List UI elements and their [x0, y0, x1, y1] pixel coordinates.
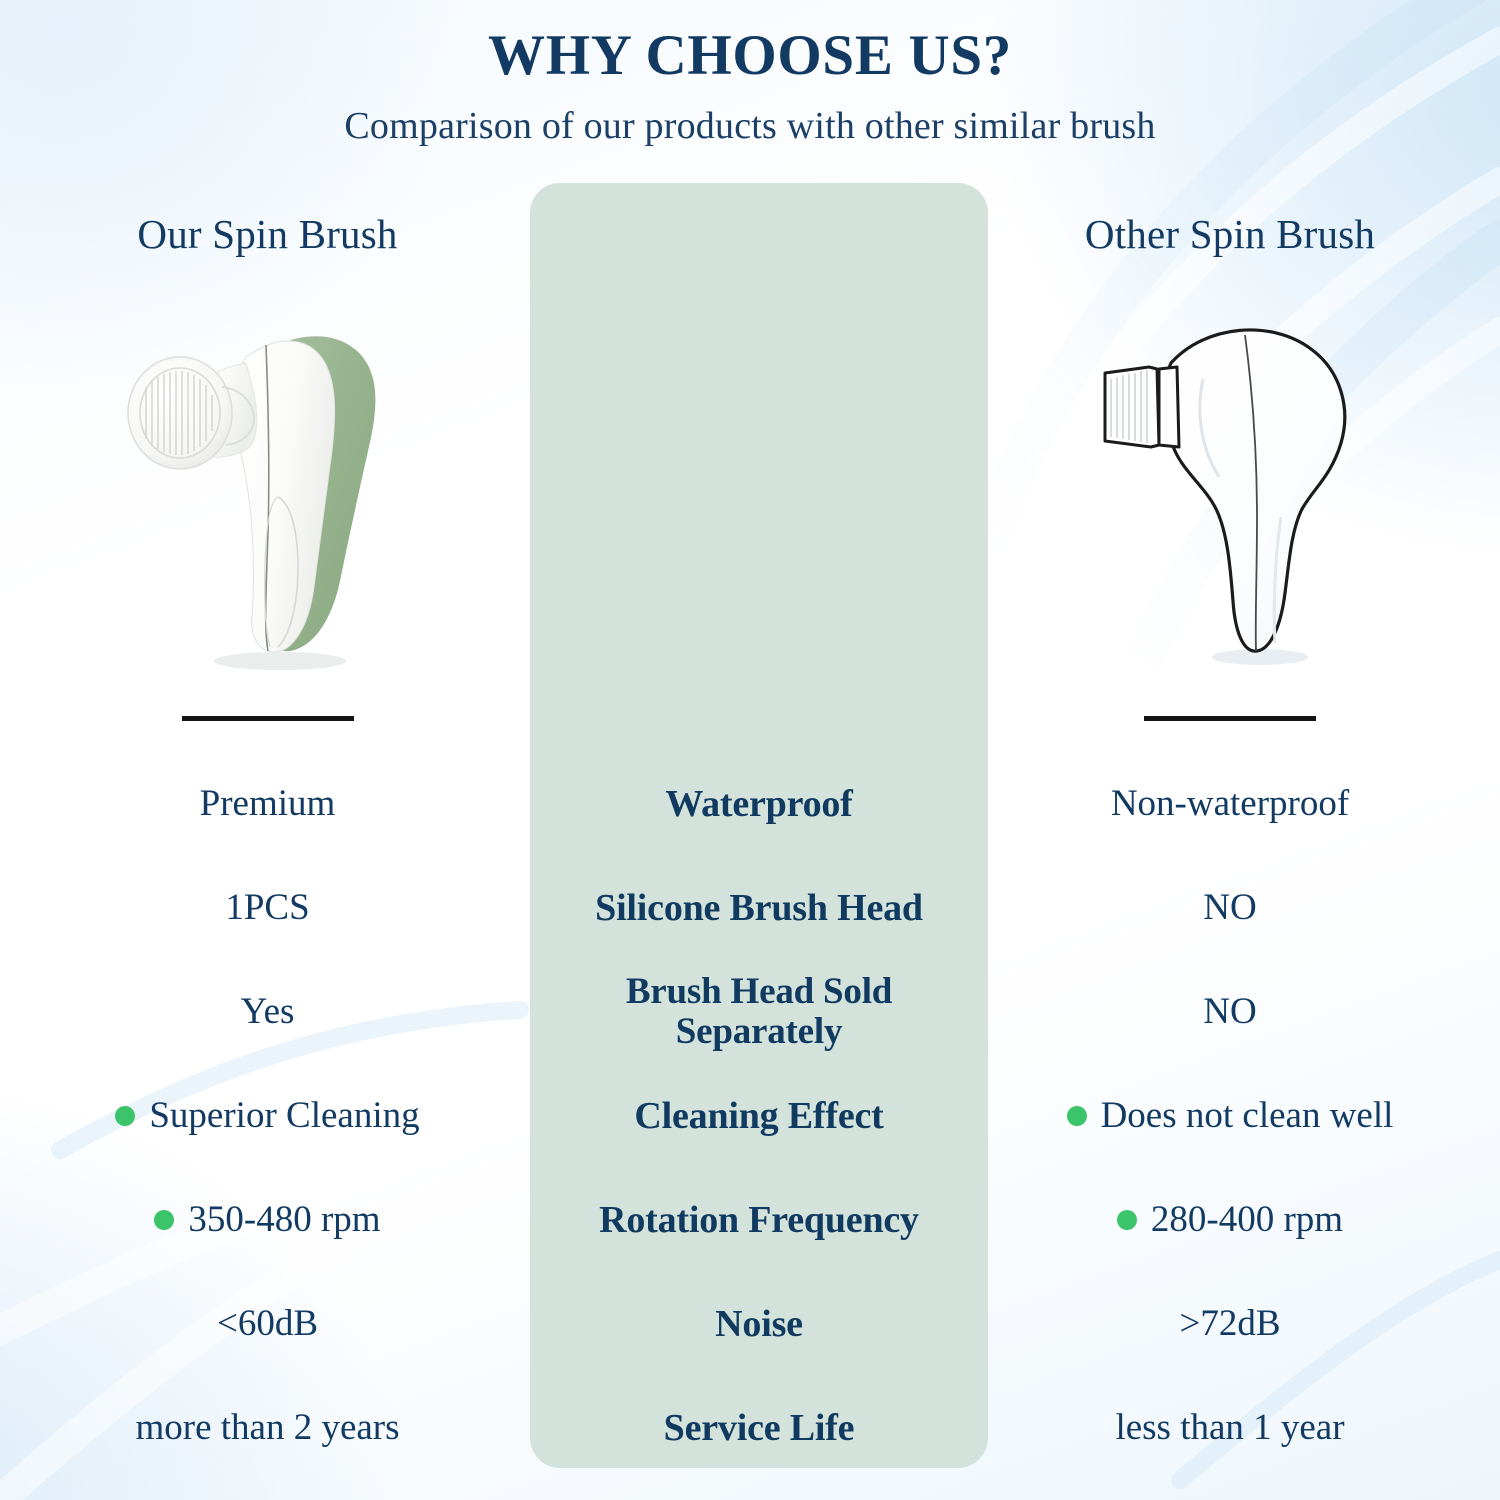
comparison-value: 1PCS	[225, 887, 309, 928]
feature-label-line1: Brush Head Sold	[626, 971, 892, 1012]
feature-label-row: Silicone Brush Head	[530, 856, 988, 960]
comparison-value: 350-480 rpm	[154, 1199, 380, 1240]
feature-label-line1: Waterproof	[665, 783, 852, 825]
bullet-dot-icon	[115, 1106, 135, 1126]
comparison-value: less than 1 year	[1115, 1407, 1344, 1448]
feature-label-line1: Service Life	[664, 1407, 855, 1449]
comparison-value-label: Does not clean well	[1101, 1095, 1394, 1136]
divider-right	[1144, 716, 1316, 721]
comparison-row-left: <60dB	[40, 1272, 495, 1376]
comparison-row-left: Superior Cleaning	[40, 1064, 495, 1168]
bullet-dot-icon	[1117, 1210, 1137, 1230]
comparison-row-left: 1PCS	[40, 856, 495, 960]
comparison-row-right: NO	[1000, 856, 1460, 960]
comparison-row-right: >72dB	[1000, 1272, 1460, 1376]
column-header-left: Our Spin Brush	[40, 210, 495, 258]
comparison-value-label: Superior Cleaning	[149, 1095, 419, 1136]
feature-label: Brush Head SoldSeparately	[626, 972, 892, 1051]
feature-label: Silicone Brush Head	[595, 887, 923, 930]
comparison-row-left: Premium	[40, 752, 495, 856]
feature-label: Service Life	[664, 1407, 855, 1450]
comparison-value: Does not clean well	[1067, 1095, 1394, 1136]
feature-label: Waterproof	[665, 783, 852, 826]
feature-label-row: Brush Head SoldSeparately	[530, 960, 988, 1064]
feature-label-line1: Rotation Frequency	[599, 1199, 919, 1241]
feature-label: Cleaning Effect	[634, 1095, 883, 1138]
comparison-value: >72dB	[1179, 1303, 1280, 1344]
feature-label-line1: Noise	[715, 1303, 803, 1345]
comparison-row-right: NO	[1000, 960, 1460, 1064]
comparison-value: NO	[1203, 887, 1256, 928]
comparison-row-right: less than 1 year	[1000, 1376, 1460, 1480]
comparison-value: Yes	[241, 991, 295, 1032]
comparison-value: <60dB	[217, 1303, 318, 1344]
product-image-our-spin-brush	[40, 300, 495, 680]
comparison-value-label: 350-480 rpm	[188, 1199, 380, 1240]
comparison-row-right: Non-waterproof	[1000, 752, 1460, 856]
page-title: WHY CHOOSE US?	[0, 26, 1500, 86]
comparison-value-label: 280-400 rpm	[1151, 1199, 1343, 1240]
feature-label-row: Cleaning Effect	[530, 1064, 988, 1168]
comparison-value: 280-400 rpm	[1117, 1199, 1343, 1240]
feature-label-row: Rotation Frequency	[530, 1168, 988, 1272]
comparison-row-left: 350-480 rpm	[40, 1168, 495, 1272]
feature-label: Noise	[715, 1303, 803, 1346]
feature-label-line1: Silicone Brush Head	[595, 887, 923, 929]
feature-label-row: Noise	[530, 1272, 988, 1376]
comparison-value: more than 2 years	[135, 1407, 399, 1448]
page-subtitle: Comparison of our products with other si…	[0, 104, 1500, 148]
bullet-dot-icon	[1067, 1106, 1087, 1126]
comparison-row-right: 280-400 rpm	[1000, 1168, 1460, 1272]
comparison-value: Non-waterproof	[1111, 783, 1349, 824]
value-list-left: Premium1PCSYesSuperior Cleaning350-480 r…	[40, 752, 495, 1480]
column-header-right: Other Spin Brush	[1000, 210, 1460, 258]
feature-label-row: Waterproof	[530, 752, 988, 856]
header: WHY CHOOSE US? Comparison of our product…	[0, 26, 1500, 148]
comparison-value: NO	[1203, 991, 1256, 1032]
comparison-row-right: Does not clean well	[1000, 1064, 1460, 1168]
comparison-row-left: Yes	[40, 960, 495, 1064]
feature-label-line2: Separately	[676, 1011, 843, 1052]
feature-label-line1: Cleaning Effect	[634, 1095, 883, 1137]
comparison-row-left: more than 2 years	[40, 1376, 495, 1480]
divider-left	[182, 716, 354, 721]
comparison-value: Premium	[200, 783, 336, 824]
feature-label-row: Service Life	[530, 1376, 988, 1480]
label-list-center: WaterproofSilicone Brush HeadBrush Head …	[530, 752, 988, 1480]
bullet-dot-icon	[154, 1210, 174, 1230]
feature-label: Rotation Frequency	[599, 1199, 919, 1242]
product-image-other-spin-brush	[1000, 300, 1460, 680]
comparison-value: Superior Cleaning	[115, 1095, 419, 1136]
value-list-right: Non-waterproofNONODoes not clean well280…	[1000, 752, 1460, 1480]
